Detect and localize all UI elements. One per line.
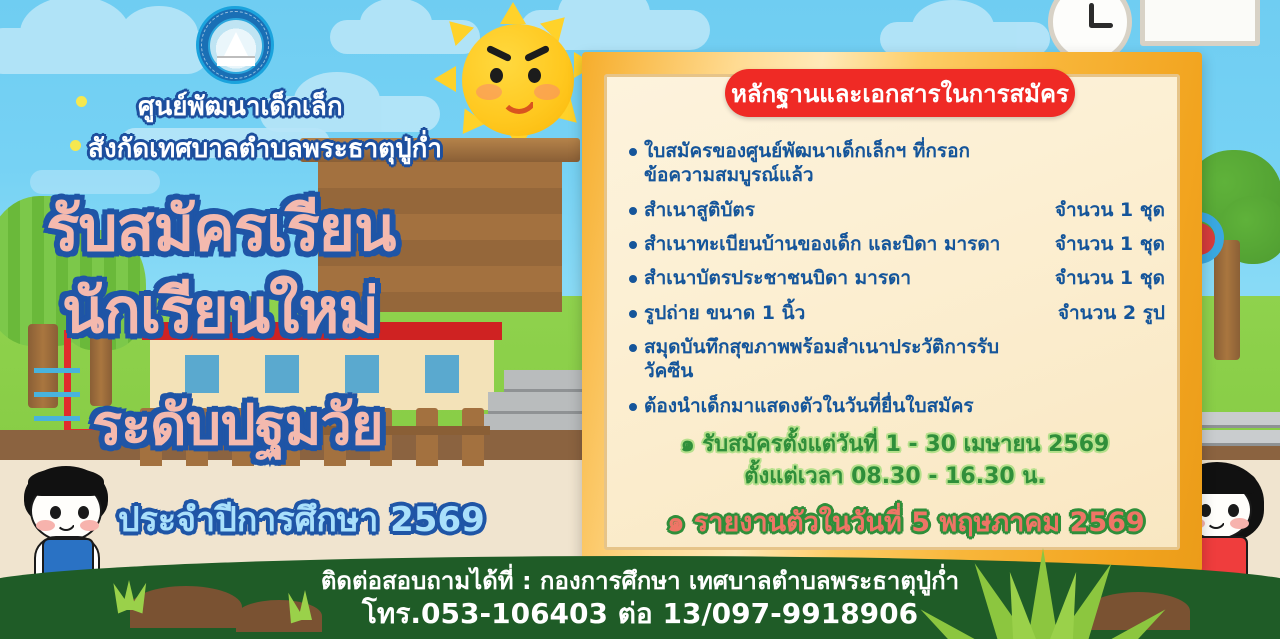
documents-panel-paper: หลักฐานและเอกสารในการสมัคร ใบสมัครของศูน… bbox=[604, 74, 1180, 550]
document-item: สมุดบันทึกสุขภาพพร้อมสำเนาประวัติการรับว… bbox=[629, 335, 1165, 384]
document-item: สำเนาบัตรประชาชนบิดา มารดา จำนวน 1 ชุด bbox=[629, 266, 1165, 290]
bullet-icon bbox=[629, 275, 637, 283]
documents-list: ใบสมัครของศูนย์พัฒนาเด็กเล็กฯ ที่กรอกข้อ… bbox=[629, 139, 1165, 428]
document-quantity: จำนวน 1 ชุด bbox=[1047, 198, 1165, 222]
bullet-icon bbox=[629, 241, 637, 249]
application-period: ๑ รับสมัครตั้งแต่วันที่ 1 - 30 เมษายน 25… bbox=[621, 429, 1169, 461]
cloud-icon bbox=[880, 22, 1050, 56]
bullet-dot-icon bbox=[70, 140, 81, 151]
document-item: สำเนาทะเบียนบ้านของเด็ก และบิดา มารดา จำ… bbox=[629, 232, 1165, 256]
bullet-icon bbox=[629, 344, 637, 352]
document-item: ใบสมัครของศูนย์พัฒนาเด็กเล็กฯ ที่กรอกข้อ… bbox=[629, 139, 1165, 188]
document-label: ต้องนำเด็กมาแสดงตัวในวันที่ยื่นใบสมัคร bbox=[644, 394, 974, 418]
panel-heading-badge: หลักฐานและเอกสารในการสมัคร bbox=[725, 69, 1075, 117]
academic-year-label: ประจำปีการศึกษา 2569 bbox=[118, 492, 485, 546]
enrollment-poster: ศูนย์พัฒนาเด็กเล็ก สังกัดเทศบาลตำบลพระธา… bbox=[0, 0, 1280, 639]
documents-panel: หลักฐานและเอกสารในการสมัคร ใบสมัครของศูน… bbox=[582, 52, 1202, 572]
bullet-icon bbox=[629, 148, 637, 156]
report-date-line: ๑ รายงานตัวในวันที่ 5 พฤษภาคม 2569 bbox=[596, 500, 1216, 543]
document-item: สำเนาสูติบัตร จำนวน 1 ชุด bbox=[629, 198, 1165, 222]
document-label: สำเนาบัตรประชาชนบิดา มารดา bbox=[644, 266, 911, 290]
document-item: รูปถ่าย ขนาด 1 นิ้ว จำนวน 2 รูป bbox=[629, 301, 1165, 325]
document-quantity: จำนวน 1 ชุด bbox=[1047, 266, 1165, 290]
application-dates: ๑ รับสมัครตั้งแต่วันที่ 1 - 30 เมษายน 25… bbox=[621, 429, 1169, 493]
bullet-icon bbox=[629, 403, 637, 411]
application-hours: ตั้งแต่เวลา 08.30 - 16.30 น. bbox=[621, 461, 1169, 493]
document-item: ต้องนำเด็กมาแสดงตัวในวันที่ยื่นใบสมัคร bbox=[629, 394, 1165, 418]
contact-phone-line: โทร.053-106403 ต่อ 13/097-9918906 bbox=[0, 596, 1280, 631]
org-name-line2: สังกัดเทศบาลตำบลพระธาตุปู่ก่ำ bbox=[88, 128, 442, 169]
contact-info: ติดต่อสอบถามได้ที่ : กองการศึกษา เทศบาลต… bbox=[0, 566, 1280, 631]
document-label: สำเนาสูติบัตร bbox=[644, 198, 755, 222]
document-label: สำเนาทะเบียนบ้านของเด็ก และบิดา มารดา bbox=[644, 232, 1000, 256]
org-name-line1: ศูนย์พัฒนาเด็กเล็ก bbox=[138, 86, 343, 127]
whiteboard-decor bbox=[1140, 0, 1260, 46]
document-label: สมุดบันทึกสุขภาพพร้อมสำเนาประวัติการรับว… bbox=[644, 335, 1029, 384]
municipal-seal-logo bbox=[196, 6, 274, 84]
headline-line2: นักเรียนใหม่ bbox=[62, 262, 378, 360]
document-quantity: จำนวน 2 รูป bbox=[1050, 301, 1165, 325]
bullet-dot-icon bbox=[76, 96, 87, 107]
bullet-icon bbox=[629, 207, 637, 215]
document-label: ใบสมัครของศูนย์พัฒนาเด็กเล็กฯ ที่กรอกข้อ… bbox=[644, 139, 1029, 188]
bullet-icon bbox=[629, 310, 637, 318]
contact-office-line: ติดต่อสอบถามได้ที่ : กองการศึกษา เทศบาลต… bbox=[0, 566, 1280, 596]
headline-line3: ระดับปฐมวัย bbox=[92, 380, 383, 469]
cloud-icon bbox=[0, 28, 210, 74]
document-quantity: จำนวน 1 ชุด bbox=[1047, 232, 1165, 256]
document-label: รูปถ่าย ขนาด 1 นิ้ว bbox=[644, 301, 805, 325]
